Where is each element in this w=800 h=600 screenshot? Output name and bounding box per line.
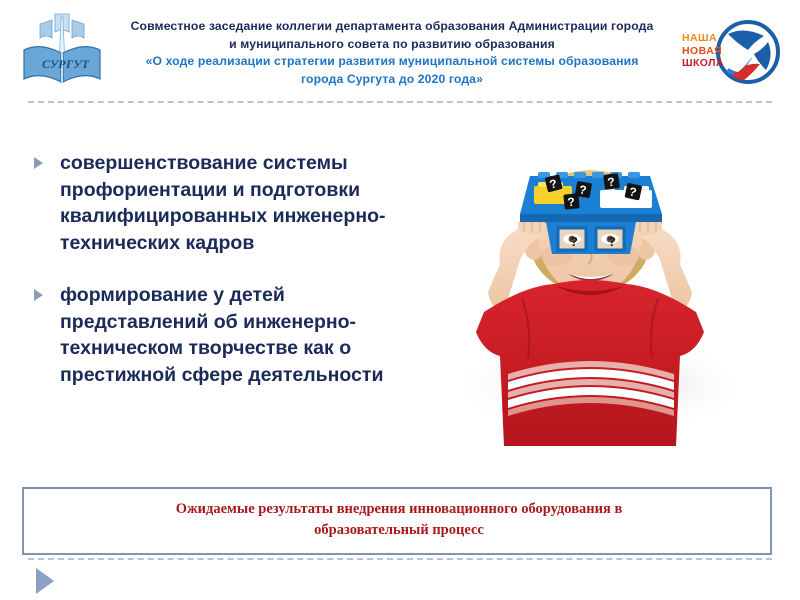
expected-results-line-1: Ожидаемые результаты внедрения инновацио… [54, 499, 744, 520]
slide-header: СУР ГУТ Совместное заседание коллегии де… [0, 0, 800, 105]
footer-divider [28, 558, 772, 560]
surgut-emblem-caption: СУР [42, 57, 66, 71]
surgut-emblem-logo: СУР ГУТ [18, 8, 106, 94]
presentation-slide: СУР ГУТ Совместное заседание коллегии де… [0, 0, 800, 600]
expected-results-text: Ожидаемые результаты внедрения инновацио… [54, 499, 744, 541]
header-title-line-2: и муниципального совета по развитию обра… [108, 36, 676, 54]
nns-word-1: НАША [682, 32, 734, 45]
play-triangle-icon[interactable] [36, 568, 54, 594]
slide-content: совершенствование системы профориентации… [0, 118, 800, 468]
nns-word-3: ШКОЛА [682, 57, 734, 70]
bullet-item-2: формирование у детей представлений об ин… [30, 282, 430, 388]
triangle-bullet-icon [34, 289, 43, 301]
bullet-item-1-text: совершенствование системы профориентации… [60, 152, 386, 254]
bullet-item-1: совершенствование системы профориентации… [30, 150, 430, 256]
header-subtitle-line-1: «О ходе реализации стратегии развития му… [108, 53, 676, 71]
header-title-block: Совместное заседание коллегии департамен… [108, 18, 676, 88]
svg-text:?: ? [570, 234, 578, 249]
nns-word-2: НОВАЯ [682, 45, 734, 58]
svg-text:ГУТ: ГУТ [65, 57, 90, 71]
nns-wordmark: НАША НОВАЯ ШКОЛА [682, 32, 734, 70]
header-subtitle-line-2: города Сургута до 2020 года» [108, 71, 676, 89]
svg-text:?: ? [567, 195, 576, 210]
expected-results-line-2: образовательный процесс [54, 520, 744, 541]
svg-text:?: ? [608, 234, 616, 249]
header-title-line-1: Совместное заседание коллегии департамен… [108, 18, 676, 36]
expected-results-box: Ожидаемые результаты внедрения инновацио… [22, 487, 772, 555]
header-divider [28, 101, 772, 103]
triangle-bullet-icon [34, 157, 43, 169]
boy-with-lego-glasses-photo: ? ? ? ? ? [404, 136, 794, 466]
bullet-item-2-text: формирование у детей представлений об ин… [60, 284, 383, 386]
nasha-novaya-shkola-logo: НАША НОВАЯ ШКОЛА [682, 16, 786, 88]
bullet-list: совершенствование системы профориентации… [30, 150, 430, 414]
